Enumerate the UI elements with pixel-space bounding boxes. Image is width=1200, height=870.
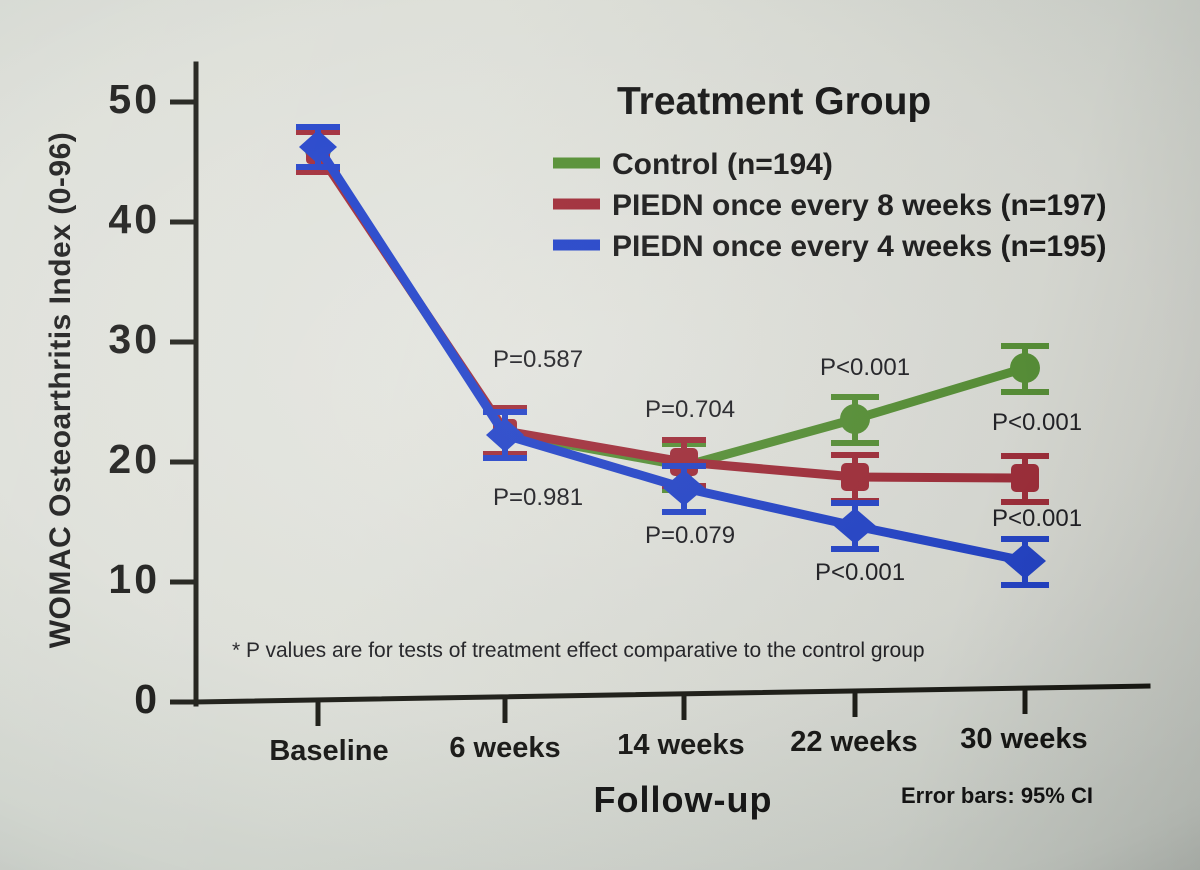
p-value-annotation: P<0.001 [815, 559, 905, 586]
legend-item-control[interactable]: Control (n=194) [553, 148, 833, 181]
p-value-annotation: P=0.079 [645, 522, 735, 549]
y-tick-label-30: 30 [108, 316, 160, 362]
legend-item-piedn-4-weeks[interactable]: PIEDN once every 4 weeks (n=195) [553, 230, 1106, 263]
x-tick-label-baseline: Baseline [269, 735, 388, 767]
series-control-errorbars [296, 130, 1049, 490]
x-axis: Baseline 6 weeks 14 weeks 22 weeks 30 we… [196, 686, 1148, 767]
legend-title: Treatment Group [617, 80, 931, 123]
y-tick-label-40: 40 [108, 196, 160, 242]
p-value-annotation: P<0.001 [992, 505, 1082, 532]
x-tick-label-14-weeks: 14 weeks [617, 729, 744, 761]
y-tick-label-50: 50 [108, 76, 160, 122]
footnote: * P values are for tests of treatment ef… [232, 639, 925, 662]
x-tick-label-30-weeks: 30 weeks [960, 723, 1087, 755]
womac-line-chart: 50 40 30 20 10 0 Baseline 6 weeks 14 wee… [0, 0, 1200, 870]
y-tick-label-0: 0 [134, 676, 160, 722]
chart-page: 50 40 30 20 10 0 Baseline 6 weeks 14 wee… [0, 0, 1200, 870]
p-value-annotation: P=0.981 [493, 484, 583, 511]
legend-label-control: Control (n=194) [612, 148, 833, 181]
chart-plot-area: 50 40 30 20 10 0 Baseline 6 weeks 14 wee… [0, 0, 1200, 870]
y-axis: 50 40 30 20 10 0 [108, 64, 196, 722]
x-tick-label-22-weeks: 22 weeks [790, 726, 917, 758]
legend-item-piedn-8-weeks[interactable]: PIEDN once every 8 weeks (n=197) [553, 189, 1106, 222]
x-tick-label-6-weeks: 6 weeks [449, 732, 560, 764]
x-axis-line [196, 686, 1148, 702]
y-tick-label-20: 20 [108, 436, 160, 482]
legend-label-piedn-8-weeks: PIEDN once every 8 weeks (n=197) [612, 189, 1106, 222]
p-value-annotation: P<0.001 [992, 409, 1082, 436]
legend-label-piedn-4-weeks: PIEDN once every 4 weeks (n=195) [612, 230, 1106, 263]
p-value-annotation: P<0.001 [820, 354, 910, 381]
x-axis-title: Follow-up [594, 779, 773, 820]
y-axis-title: WOMAC Osteoarthritis Index (0-96) [44, 132, 77, 649]
y-tick-label-10: 10 [108, 556, 160, 602]
p-value-annotation: P=0.587 [493, 346, 583, 373]
legend: Treatment Group Control (n=194) PIEDN on… [553, 80, 1106, 263]
error-bar-note: Error bars: 95% CI [901, 783, 1093, 808]
p-value-annotation: P=0.704 [645, 396, 735, 423]
series-control [296, 130, 1049, 490]
